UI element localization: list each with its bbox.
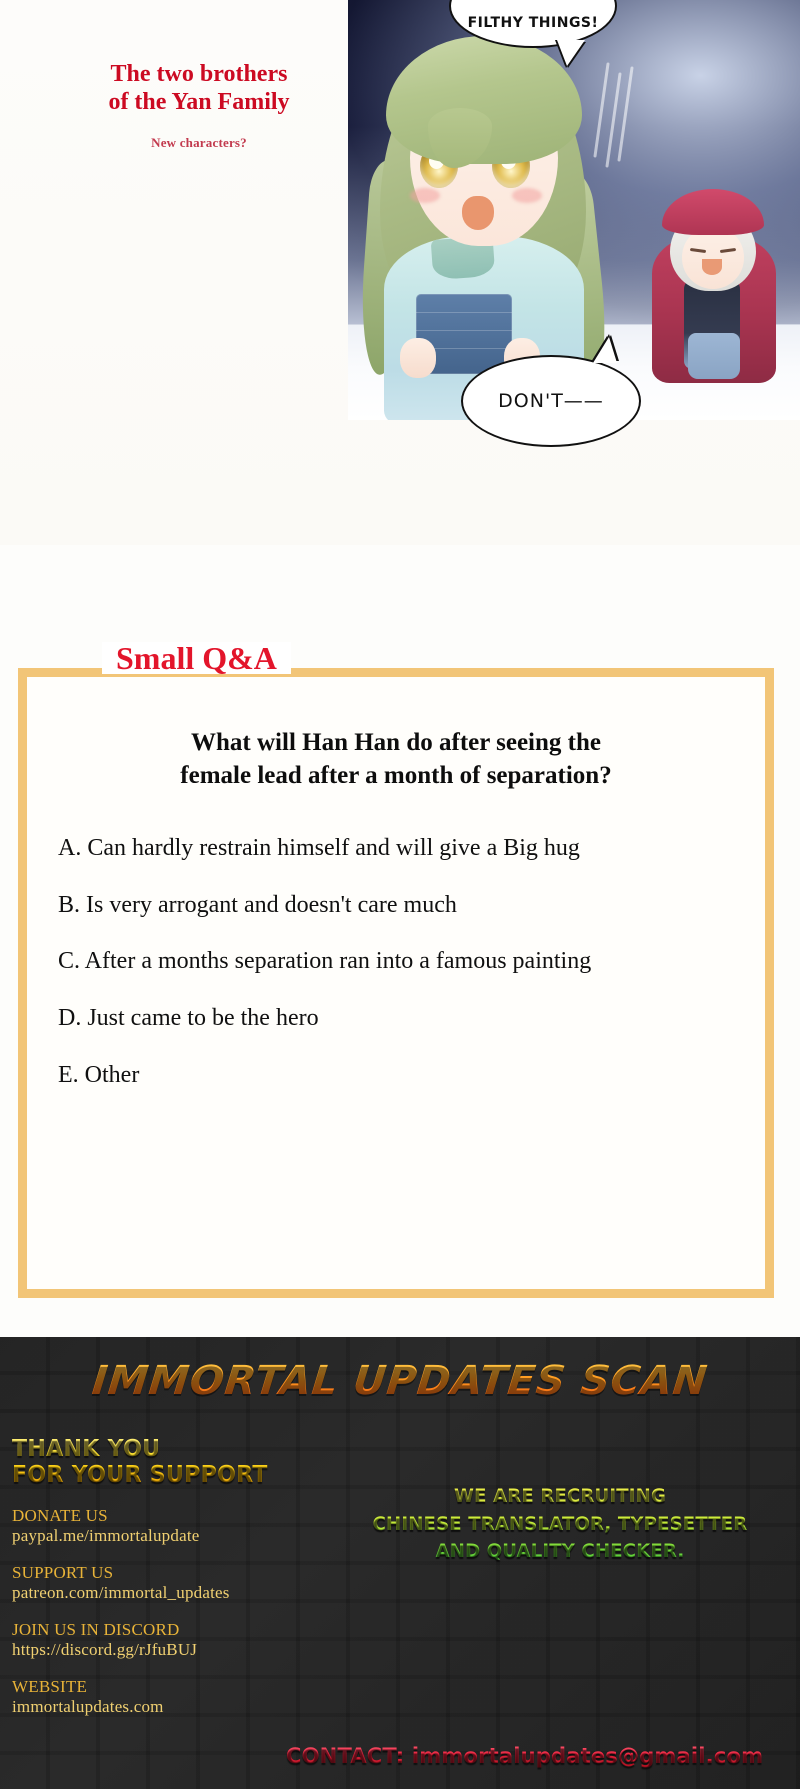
qa-option-b[interactable]: B. Is very arrogant and doesn't care muc… <box>58 890 718 921</box>
discord-url[interactable]: https://discord.gg/rJfuBUJ <box>12 1640 278 1660</box>
support-label: SUPPORT US <box>12 1563 278 1583</box>
character-hat <box>662 189 764 235</box>
recruiting-notice: WE ARE RECRUITING CHINESE TRANSLATOR, TY… <box>342 1483 779 1566</box>
series-title-line2: of the Yan Family <box>64 88 334 116</box>
website-link-group: WEBSITE immortalupdates.com <box>12 1677 278 1717</box>
website-label: WEBSITE <box>12 1677 278 1697</box>
website-url[interactable]: immortalupdates.com <box>12 1697 278 1717</box>
thank-you-line1: THANK YOU <box>12 1437 268 1463</box>
qa-option-c[interactable]: C. After a months separation ran into a … <box>58 946 718 977</box>
support-url[interactable]: patreon.com/immortal_updates <box>12 1583 278 1603</box>
thank-you-line2: FOR YOUR SUPPORT <box>12 1463 268 1489</box>
qa-section: Small Q&A What will Han Han do after see… <box>18 668 774 1298</box>
scan-group-logo: IMMORTAL UPDATES SCAN <box>0 1358 800 1404</box>
character-red-hat <box>648 183 778 378</box>
character-mouth <box>702 259 722 275</box>
speech-bubble-top-text: FILTHY THINGS! <box>468 15 599 31</box>
support-link-group: SUPPORT US patreon.com/immortal_updates <box>12 1563 278 1603</box>
qa-option-a[interactable]: A. Can hardly restrain himself and will … <box>58 833 718 864</box>
character-face <box>682 227 744 289</box>
recruiting-line3: AND QUALITY CHECKER. <box>342 1538 779 1566</box>
speech-bubble-bottom-text: DON'T—— <box>498 390 604 412</box>
qa-heading: Small Q&A <box>102 642 291 674</box>
comic-page: The two brothers of the Yan Family New c… <box>0 0 800 1789</box>
character-mouth <box>462 196 494 230</box>
donate-url[interactable]: paypal.me/immortalupdate <box>12 1526 278 1546</box>
contact-email[interactable]: CONTACT: immortalupdates@gmail.com <box>286 1744 786 1768</box>
recruiting-line2: CHINESE TRANSLATOR, TYPESETTER <box>342 1511 779 1539</box>
series-subtitle: New characters? <box>64 135 334 151</box>
character-blush-left <box>410 188 440 203</box>
speech-bubble-tail-icon <box>593 337 617 363</box>
discord-label: JOIN US IN DISCORD <box>12 1620 278 1640</box>
series-title-line1: The two brothers <box>64 60 334 88</box>
discord-link-group: JOIN US IN DISCORD https://discord.gg/rJ… <box>12 1620 278 1660</box>
character-legs <box>688 333 740 379</box>
speech-bubble-tail-icon <box>557 40 585 66</box>
character-bangs <box>386 36 582 164</box>
series-title: The two brothers of the Yan Family <box>64 60 334 117</box>
qa-option-d[interactable]: D. Just came to be the hero <box>58 1003 718 1034</box>
speech-bubble-bottom: DON'T—— <box>461 355 641 447</box>
thank-you-heading: THANK YOU FOR YOUR SUPPORT <box>12 1437 268 1489</box>
character-blush-right <box>512 188 542 203</box>
recruiting-line1: WE ARE RECRUITING <box>342 1483 779 1511</box>
donate-label: DONATE US <box>12 1506 278 1526</box>
qa-question-line1: What will Han Han do after seeing the <box>56 726 736 759</box>
donate-link-group: DONATE US paypal.me/immortalupdate <box>12 1506 278 1546</box>
character-hand-left <box>400 338 436 378</box>
support-block: THANK YOU FOR YOUR SUPPORT DONATE US pay… <box>12 1437 278 1717</box>
top-section: The two brothers of the Yan Family New c… <box>0 0 800 545</box>
qa-question: What will Han Han do after seeing the fe… <box>56 726 736 792</box>
qa-question-line2: female lead after a month of separation? <box>56 759 736 792</box>
qa-option-e[interactable]: E. Other <box>58 1060 718 1091</box>
qa-option-list: A. Can hardly restrain himself and will … <box>58 833 718 1117</box>
